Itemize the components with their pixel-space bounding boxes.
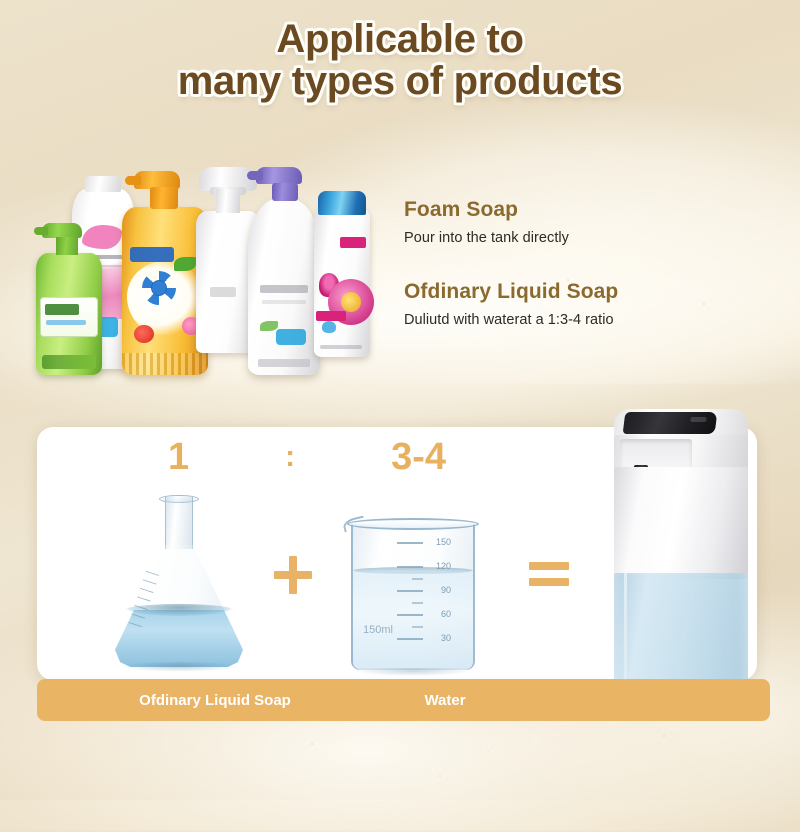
beaker-tick-90 [397,590,423,592]
bottle-neck [150,187,178,209]
plus-icon [274,556,312,594]
beaker-volume-label: 150ml [363,624,393,636]
bottle-badge [276,329,306,345]
beaker-tick-60 [397,614,423,616]
beaker-tick-label-150: 150 [436,537,451,547]
bottle-fine-print [320,345,362,349]
feature-spacer [404,246,734,280]
bottle-label-text [260,285,308,293]
bottle-white-purple-pump [248,199,320,375]
pump-nozzle-icon [125,176,141,185]
beaker-tick-label-30: 30 [441,633,451,643]
flask-liquid-surface [125,604,233,616]
equals-icon [529,562,569,588]
beaker-water: 150 120 90 60 30 150ml [347,512,479,672]
beaker-tick-label-120: 120 [436,561,451,571]
beaker-tick-label-90: 90 [441,585,451,595]
sprig-graphic [322,321,336,333]
feature-title-liquid-soap: Ofdinary Liquid Soap [404,280,734,304]
feature-text-block: Foam Soap Pour into the tank directly Of… [404,198,734,328]
pump-nozzle-icon [247,171,263,180]
page-title-line-2: many types of products [0,60,800,102]
caption-water: Water [355,692,535,709]
page-title-line-1: Applicable to [0,18,800,60]
bottle-cap-icon [318,191,366,215]
beaker-tick-minor-3 [412,626,423,628]
ratio-water-part: 3-4 [391,436,446,479]
bottle-label-text [210,287,236,297]
beaker-scale: 150 120 90 60 30 [397,538,453,648]
beaker-tick-150 [397,542,423,544]
bottle-neck [272,183,298,201]
flower-graphic [142,271,176,305]
flask-base-shadow [121,662,237,672]
page-title: Applicable to many types of products [0,18,800,103]
ratio-soap-part: 1 [168,436,189,479]
bottle-footer-band [258,359,310,367]
mix-ratio-row: 1 : 3-4 [37,430,577,484]
leaf-graphic [260,321,278,331]
fruit-graphic [134,325,154,343]
flask-neck [165,497,193,549]
feature-description-foam-soap: Pour into the tank directly [404,230,734,246]
pump-nozzle-icon [34,227,48,235]
bottle-neck [56,237,78,255]
beaker-tick-30 [397,638,423,640]
beaker-rim [347,518,479,530]
caption-liquid-soap: Ofdinary Liquid Soap [85,692,345,709]
beaker-base-shadow [355,668,471,676]
erlenmeyer-flask-soap [115,497,243,672]
pump-head-icon [42,223,82,238]
bottle-label [40,297,98,337]
ratio-separator: : [285,440,295,474]
bottle-band [316,311,346,321]
bottle-brand-mark [130,247,174,262]
mix-vessels-row: 150 120 90 60 30 150ml [37,484,577,680]
bottle-neck [216,189,240,213]
bottle-tag [340,237,366,248]
beaker-tick-minor-2 [412,602,423,604]
bottle-ribs [122,353,208,375]
soap-dispenser-product [608,409,756,709]
bottle-footer-band [42,355,96,369]
bottle-pink-shampoo [314,207,370,357]
dispenser-body [614,467,748,579]
beaker-tick-120 [397,566,423,568]
beaker-tick-label-60: 60 [441,609,451,619]
caption-bar: Ofdinary Liquid Soap Water [37,679,770,721]
bottle-label-subtext [46,320,86,325]
leaf-graphic [174,257,196,271]
feature-title-foam-soap: Foam Soap [404,198,734,222]
bottle-cap-icon [85,176,121,192]
soap-bottles-group [36,140,396,375]
beaker-tick-minor-1 [412,578,423,580]
sensor-panel-icon [623,412,718,434]
feature-description-liquid-soap: Duliutd with waterat a 1:3-4 ratio [404,312,734,328]
bottle-green-handwash [36,253,102,375]
